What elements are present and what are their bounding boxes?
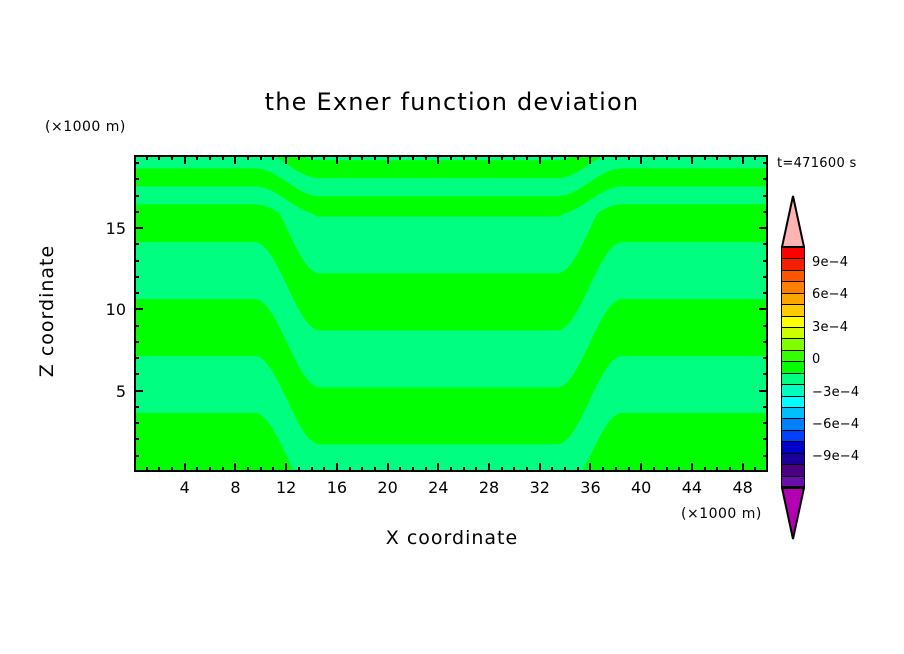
colorbar-band — [781, 396, 805, 407]
x-axis-minor-tick — [311, 155, 313, 160]
x-axis-minor-tick — [412, 467, 414, 472]
colorbar-band — [781, 418, 805, 429]
y-axis-minor-tick — [134, 211, 139, 213]
x-axis-minor-tick — [551, 155, 553, 160]
y-axis-minor-tick — [134, 243, 139, 245]
x-axis-minor-tick — [716, 467, 718, 472]
x-axis-major-tick — [387, 155, 389, 164]
y-axis-minor-tick — [763, 195, 768, 197]
x-axis-minor-tick — [260, 467, 262, 472]
x-axis-minor-tick — [450, 467, 452, 472]
y-axis-minor-tick — [763, 422, 768, 424]
y-axis-minor-tick — [763, 325, 768, 327]
y-axis-minor-tick — [763, 260, 768, 262]
x-axis-minor-tick — [146, 155, 148, 160]
x-axis-minor-tick — [171, 155, 173, 160]
x-axis-minor-tick — [754, 155, 756, 160]
y-axis-minor-tick — [134, 178, 139, 180]
x-axis-major-tick — [336, 155, 338, 164]
colorbar-band — [781, 281, 805, 292]
x-axis-minor-tick — [146, 467, 148, 472]
colorbar-tick-label: −9e−4 — [812, 449, 859, 464]
colorbar-band — [781, 327, 805, 338]
y-axis-minor-tick — [134, 373, 139, 375]
x-axis-tick-label: 24 — [418, 478, 458, 497]
x-axis-minor-tick — [450, 155, 452, 160]
x-axis-minor-tick — [501, 467, 503, 472]
y-axis-tick-label: 10 — [86, 300, 126, 319]
x-axis-minor-tick — [716, 155, 718, 160]
x-axis-tick-label: 48 — [723, 478, 763, 497]
x-axis-major-tick — [184, 463, 186, 472]
y-axis-major-tick — [759, 227, 768, 229]
y-axis-minor-tick — [763, 373, 768, 375]
colorbar-band — [781, 338, 805, 349]
x-axis-minor-tick — [425, 155, 427, 160]
x-axis-major-tick — [234, 155, 236, 164]
y-axis-minor-tick — [134, 357, 139, 359]
y-axis-title: Z coordinate — [36, 201, 58, 421]
x-axis-minor-tick — [374, 467, 376, 472]
y-axis-minor-tick — [763, 341, 768, 343]
colorbar-tick-label: 6e−4 — [812, 287, 848, 302]
x-axis-minor-tick — [374, 155, 376, 160]
x-axis-minor-tick — [678, 155, 680, 160]
x-axis-major-tick — [437, 155, 439, 164]
y-axis-minor-tick — [134, 438, 139, 440]
colorbar-band — [781, 361, 805, 372]
x-axis-minor-tick — [526, 467, 528, 472]
y-axis-major-tick — [759, 390, 768, 392]
x-axis-minor-tick — [209, 467, 211, 472]
x-axis-minor-tick — [222, 155, 224, 160]
x-axis-minor-tick — [564, 155, 566, 160]
x-axis-minor-tick — [666, 155, 668, 160]
x-axis-minor-tick — [628, 467, 630, 472]
colorbar-band — [781, 373, 805, 384]
colorbar-band — [781, 384, 805, 395]
x-axis-minor-tick — [501, 155, 503, 160]
x-axis-minor-tick — [475, 467, 477, 472]
y-axis-minor-tick — [134, 325, 139, 327]
x-axis-major-tick — [285, 463, 287, 472]
x-axis-minor-tick — [463, 467, 465, 472]
x-axis-minor-tick — [666, 467, 668, 472]
x-axis-minor-tick — [272, 155, 274, 160]
x-axis-minor-tick — [361, 467, 363, 472]
colorbar-band — [781, 304, 805, 315]
colorbar-band — [781, 247, 805, 258]
x-axis-minor-tick — [399, 155, 401, 160]
x-axis-tick-label: 8 — [215, 478, 255, 497]
colorbar-tick-label: −3e−4 — [812, 385, 859, 400]
y-axis-minor-tick — [134, 195, 139, 197]
y-axis-minor-tick — [763, 357, 768, 359]
x-axis-major-tick — [387, 463, 389, 472]
x-axis-minor-tick — [577, 155, 579, 160]
x-axis-minor-tick — [513, 155, 515, 160]
x-axis-minor-tick — [272, 467, 274, 472]
colorbar-band — [781, 453, 805, 464]
page-title: the Exner function deviation — [0, 88, 904, 116]
x-axis-major-tick — [640, 463, 642, 472]
x-axis-minor-tick — [323, 155, 325, 160]
y-axis-minor-tick — [134, 406, 139, 408]
y-axis-minor-tick — [763, 276, 768, 278]
colorbar-band — [781, 441, 805, 452]
y-axis-minor-tick — [134, 260, 139, 262]
y-axis-major-tick — [134, 227, 143, 229]
x-axis-tick-label: 44 — [672, 478, 712, 497]
contour-plot-area — [134, 155, 768, 472]
x-axis-major-tick — [285, 155, 287, 164]
colorbar-bands — [781, 247, 805, 487]
colorbar-tick-label: 9e−4 — [812, 255, 848, 270]
y-axis-minor-tick — [763, 438, 768, 440]
x-axis-tick-label: 12 — [266, 478, 306, 497]
x-axis-minor-tick — [158, 155, 160, 160]
colorbar-band — [781, 350, 805, 361]
x-axis-major-tick — [742, 463, 744, 472]
x-axis-minor-tick — [247, 155, 249, 160]
y-axis-minor-tick — [763, 455, 768, 457]
x-axis-major-tick — [437, 463, 439, 472]
x-axis-minor-tick — [729, 155, 731, 160]
x-axis-minor-tick — [463, 155, 465, 160]
x-axis-minor-tick — [513, 467, 515, 472]
x-axis-minor-tick — [311, 467, 313, 472]
x-axis-major-tick — [589, 463, 591, 472]
x-axis-minor-tick — [158, 467, 160, 472]
x-axis-major-tick — [336, 463, 338, 472]
x-axis-minor-tick — [196, 155, 198, 160]
x-axis-tick-label: 40 — [621, 478, 661, 497]
x-axis-minor-tick — [615, 467, 617, 472]
x-axis-minor-tick — [209, 155, 211, 160]
x-axis-minor-tick — [260, 155, 262, 160]
x-axis-tick-label: 32 — [520, 478, 560, 497]
x-axis-minor-tick — [349, 467, 351, 472]
x-axis-minor-tick — [653, 155, 655, 160]
colorbar-band — [781, 430, 805, 441]
y-axis-minor-tick — [134, 292, 139, 294]
y-axis-major-tick — [134, 390, 143, 392]
x-axis-major-tick — [539, 155, 541, 164]
x-axis-minor-tick — [399, 467, 401, 472]
colorbar-tick-label: −6e−4 — [812, 417, 859, 432]
x-axis-minor-tick — [653, 467, 655, 472]
x-axis-tick-label: 36 — [570, 478, 610, 497]
y-axis-minor-tick — [134, 162, 139, 164]
x-axis-minor-tick — [678, 467, 680, 472]
x-axis-major-tick — [691, 155, 693, 164]
x-axis-tick-label: 28 — [469, 478, 509, 497]
y-axis-minor-tick — [134, 276, 139, 278]
x-axis-minor-tick — [349, 155, 351, 160]
y-axis-minor-tick — [763, 243, 768, 245]
x-axis-major-tick — [184, 155, 186, 164]
y-axis-minor-tick — [763, 178, 768, 180]
x-axis-major-tick — [742, 155, 744, 164]
x-axis-major-tick — [234, 463, 236, 472]
x-axis-minor-tick — [754, 467, 756, 472]
x-axis-tick-label: 20 — [368, 478, 408, 497]
x-axis-units-label: (×1000 m) — [681, 506, 762, 522]
y-axis-minor-tick — [763, 406, 768, 408]
x-axis-minor-tick — [602, 155, 604, 160]
y-axis-major-tick — [759, 308, 768, 310]
x-axis-minor-tick — [298, 467, 300, 472]
x-axis-minor-tick — [704, 155, 706, 160]
figure-canvas: the Exner function deviation (×1000 m) (… — [0, 0, 904, 654]
y-axis-minor-tick — [763, 292, 768, 294]
x-axis-major-tick — [691, 463, 693, 472]
x-axis-minor-tick — [247, 467, 249, 472]
x-axis-minor-tick — [171, 467, 173, 472]
y-axis-major-tick — [134, 308, 143, 310]
x-axis-minor-tick — [729, 467, 731, 472]
y-axis-minor-tick — [763, 162, 768, 164]
x-axis-minor-tick — [564, 467, 566, 472]
x-axis-minor-tick — [628, 155, 630, 160]
x-axis-minor-tick — [323, 467, 325, 472]
y-axis-tick-label: 5 — [86, 382, 126, 401]
y-axis-minor-tick — [134, 455, 139, 457]
timestamp-annotation: t=471600 s — [777, 156, 857, 171]
colorbar-band — [781, 407, 805, 418]
colorbar-band — [781, 464, 805, 475]
x-axis-major-tick — [539, 463, 541, 472]
colorbar-band — [781, 476, 805, 487]
colorbar-tick-label: 3e−4 — [812, 320, 848, 335]
x-axis-major-tick — [640, 155, 642, 164]
x-axis-minor-tick — [602, 467, 604, 472]
x-axis-minor-tick — [298, 155, 300, 160]
x-axis-minor-tick — [615, 155, 617, 160]
x-axis-minor-tick — [222, 467, 224, 472]
x-axis-minor-tick — [196, 467, 198, 472]
y-axis-minor-tick — [134, 341, 139, 343]
colorbar-band — [781, 293, 805, 304]
y-axis-minor-tick — [134, 422, 139, 424]
y-axis-minor-tick — [763, 211, 768, 213]
x-axis-minor-tick — [526, 155, 528, 160]
x-axis-major-tick — [589, 155, 591, 164]
x-axis-minor-tick — [551, 467, 553, 472]
colorbar-band — [781, 258, 805, 269]
x-axis-minor-tick — [412, 155, 414, 160]
x-axis-minor-tick — [577, 467, 579, 472]
x-axis-major-tick — [488, 463, 490, 472]
x-axis-minor-tick — [361, 155, 363, 160]
contour-field — [136, 157, 766, 470]
colorbar-band — [781, 316, 805, 327]
x-axis-major-tick — [488, 155, 490, 164]
colorbar-band — [781, 270, 805, 281]
x-axis-minor-tick — [475, 155, 477, 160]
x-axis-minor-tick — [704, 467, 706, 472]
colorbar-tick-label: 0 — [812, 352, 820, 367]
x-axis-tick-label: 16 — [317, 478, 357, 497]
x-axis-title: X coordinate — [0, 527, 904, 549]
y-axis-tick-label: 15 — [86, 219, 126, 238]
y-axis-units-label: (×1000 m) — [45, 119, 126, 135]
x-axis-minor-tick — [425, 467, 427, 472]
x-axis-tick-label: 4 — [165, 478, 205, 497]
